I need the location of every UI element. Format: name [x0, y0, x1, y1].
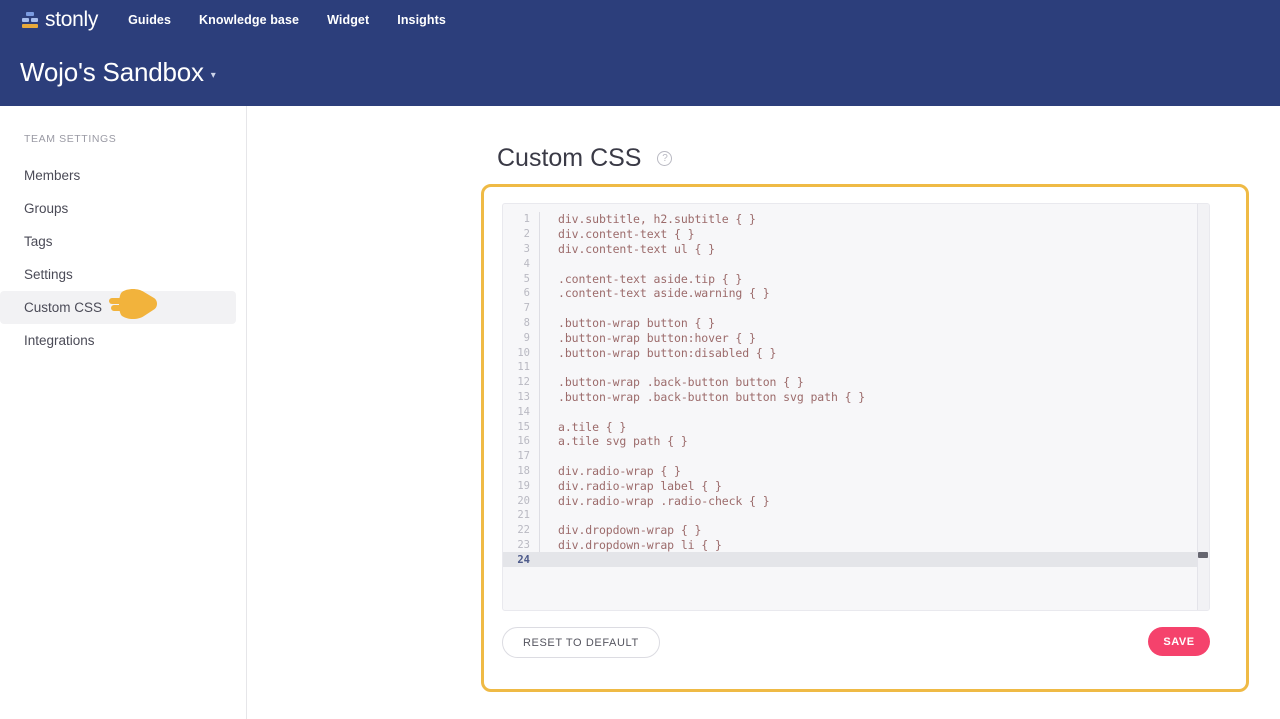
line-content: div.radio-wrap label { } [540, 479, 722, 493]
brand-logo[interactable]: stonly [20, 8, 98, 32]
editor-scrollbar-thumb[interactable] [1198, 552, 1208, 558]
line-content: div.dropdown-wrap { } [540, 523, 701, 537]
workspace-switcher[interactable]: Wojo's Sandbox ▾ [20, 57, 216, 88]
line-content: div.radio-wrap .radio-check { } [540, 494, 770, 508]
line-number: 9 [503, 332, 539, 344]
sidebar-item-label: Integrations [24, 333, 95, 348]
line-number: 18 [503, 465, 539, 477]
line-content: div.content-text ul { } [540, 242, 715, 256]
code-line[interactable]: 5 .content-text aside.tip { } [503, 271, 1209, 286]
team-settings-sidebar: TEAM SETTINGS Members Groups Tags Settin… [0, 106, 247, 719]
line-number: 22 [503, 524, 539, 536]
code-line[interactable]: 22 div.dropdown-wrap { } [503, 523, 1209, 538]
line-number: 10 [503, 347, 539, 359]
sidebar-item-integrations[interactable]: Integrations [0, 324, 236, 357]
sidebar-item-custom-css[interactable]: Custom CSS [0, 291, 236, 324]
code-line[interactable]: 19 div.radio-wrap label { } [503, 478, 1209, 493]
code-line[interactable]: 7 [503, 301, 1209, 316]
code-line[interactable]: 18 div.radio-wrap { } [503, 464, 1209, 479]
code-line[interactable]: 6 .content-text aside.warning { } [503, 286, 1209, 301]
code-line[interactable]: 3 div.content-text ul { } [503, 242, 1209, 257]
line-number: 19 [503, 480, 539, 492]
line-number: 24 [503, 554, 539, 566]
nav-link-knowledge-base[interactable]: Knowledge base [199, 13, 299, 27]
sidebar-item-label: Members [24, 168, 80, 183]
line-content: .button-wrap button:disabled { } [540, 346, 776, 360]
code-lines-container: 1 div.subtitle, h2.subtitle { } 2 div.co… [503, 212, 1209, 568]
code-line[interactable]: 4 [503, 256, 1209, 271]
custom-css-panel: 1 div.subtitle, h2.subtitle { } 2 div.co… [481, 184, 1249, 692]
chevron-down-icon: ▾ [211, 70, 216, 81]
stacked-blocks-logo-icon [20, 10, 40, 30]
sidebar-item-label: Groups [24, 201, 68, 216]
editor-action-row: RESET TO DEFAULT SAVE [502, 627, 1210, 659]
line-number: 17 [503, 450, 539, 462]
css-code-editor[interactable]: 1 div.subtitle, h2.subtitle { } 2 div.co… [502, 203, 1210, 611]
line-number: 2 [503, 228, 539, 240]
code-line[interactable]: 2 div.content-text { } [503, 227, 1209, 242]
line-number: 3 [503, 243, 539, 255]
sidebar-item-groups[interactable]: Groups [0, 192, 236, 225]
gutter-divider [539, 508, 540, 523]
code-line[interactable]: 23 div.dropdown-wrap li { } [503, 538, 1209, 553]
code-line[interactable]: 21 [503, 508, 1209, 523]
code-line[interactable]: 11 [503, 360, 1209, 375]
code-line[interactable]: 10 .button-wrap button:disabled { } [503, 345, 1209, 360]
gutter-divider [539, 552, 540, 567]
line-content: .content-text aside.warning { } [540, 286, 770, 300]
line-number: 12 [503, 376, 539, 388]
line-content: div.subtitle, h2.subtitle { } [540, 212, 756, 226]
editor-horizontal-scrollbar[interactable] [503, 609, 1197, 610]
line-number: 8 [503, 317, 539, 329]
save-button[interactable]: SAVE [1148, 627, 1210, 656]
primary-nav-row: stonly Guides Knowledge base Widget Insi… [0, 0, 1280, 40]
line-number: 16 [503, 435, 539, 447]
line-number: 13 [503, 391, 539, 403]
line-content: .button-wrap button:hover { } [540, 331, 756, 345]
code-line[interactable]: 15 a.tile { } [503, 419, 1209, 434]
code-line[interactable]: 13 .button-wrap .back-button button svg … [503, 390, 1209, 405]
sidebar-item-settings[interactable]: Settings [0, 258, 236, 291]
line-number: 14 [503, 406, 539, 418]
brand-name: stonly [45, 8, 98, 32]
line-content: .button-wrap button { } [540, 316, 715, 330]
top-navigation-bar: stonly Guides Knowledge base Widget Insi… [0, 0, 1280, 106]
line-content: div.radio-wrap { } [540, 464, 681, 478]
gutter-divider [539, 449, 540, 464]
line-number: 23 [503, 539, 539, 551]
nav-links: Guides Knowledge base Widget Insights [128, 13, 446, 27]
code-line[interactable]: 17 [503, 449, 1209, 464]
code-line[interactable]: 20 div.radio-wrap .radio-check { } [503, 493, 1209, 508]
sidebar-item-label: Tags [24, 234, 53, 249]
line-number: 15 [503, 421, 539, 433]
line-number: 4 [503, 258, 539, 270]
nav-link-guides[interactable]: Guides [128, 13, 171, 27]
line-content: .button-wrap .back-button button svg pat… [540, 390, 865, 404]
line-content: div.dropdown-wrap li { } [540, 538, 722, 552]
nav-link-insights[interactable]: Insights [397, 13, 446, 27]
code-line[interactable]: 16 a.tile svg path { } [503, 434, 1209, 449]
gutter-divider [539, 360, 540, 375]
page-title: Custom CSS [497, 144, 641, 173]
code-line[interactable]: 14 [503, 404, 1209, 419]
line-number: 6 [503, 287, 539, 299]
code-line[interactable]: 8 .button-wrap button { } [503, 316, 1209, 331]
gutter-divider [539, 256, 540, 271]
line-number: 5 [503, 273, 539, 285]
gutter-divider [539, 404, 540, 419]
line-number: 11 [503, 361, 539, 373]
question-mark-circle-icon[interactable]: ? [657, 151, 672, 166]
line-content: div.content-text { } [540, 227, 694, 241]
nav-link-widget[interactable]: Widget [327, 13, 369, 27]
sidebar-item-members[interactable]: Members [0, 159, 236, 192]
code-line[interactable]: 1 div.subtitle, h2.subtitle { } [503, 212, 1209, 227]
line-content: .content-text aside.tip { } [540, 272, 742, 286]
line-content: .button-wrap .back-button button { } [540, 375, 804, 389]
code-line[interactable]: 12 .button-wrap .back-button button { } [503, 375, 1209, 390]
editor-vertical-scrollbar[interactable] [1197, 204, 1209, 611]
line-content: a.tile svg path { } [540, 434, 688, 448]
line-number: 21 [503, 509, 539, 521]
gutter-divider [539, 301, 540, 316]
line-number: 7 [503, 302, 539, 314]
sidebar-item-tags[interactable]: Tags [0, 225, 236, 258]
sidebar-heading: TEAM SETTINGS [24, 133, 116, 145]
main-content: Custom CSS ? 1 div.subtitle, h2.subtitle… [247, 106, 1280, 719]
line-content: a.tile { } [540, 420, 626, 434]
line-number: 1 [503, 213, 539, 225]
sidebar-item-label: Settings [24, 267, 73, 282]
reset-to-default-button[interactable]: RESET TO DEFAULT [502, 627, 660, 658]
line-number: 20 [503, 495, 539, 507]
page-header: Custom CSS ? [497, 144, 672, 173]
code-line[interactable]: 9 .button-wrap button:hover { } [503, 330, 1209, 345]
sidebar-item-list: Members Groups Tags Settings Custom CSS … [0, 159, 246, 357]
code-line-active[interactable]: 24 [503, 552, 1209, 567]
workspace-name: Wojo's Sandbox [20, 57, 204, 88]
sidebar-item-label: Custom CSS [24, 300, 102, 315]
